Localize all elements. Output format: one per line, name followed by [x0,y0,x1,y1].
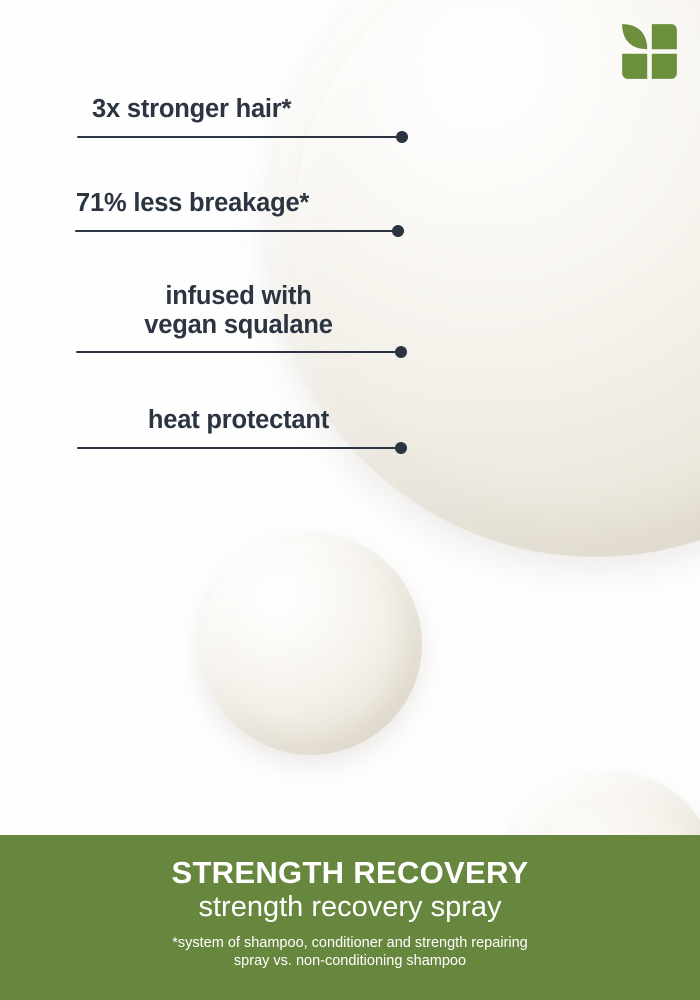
claim-rule-line [77,447,401,449]
large-product-sphere [268,0,700,557]
claim-rule-dot [395,442,407,454]
product-banner: STRENGTH RECOVERY strength recovery spra… [0,835,700,1000]
claim-rule [0,224,420,238]
claim-item: 3x stronger hair* [0,95,420,144]
claim-rule-line [75,230,398,232]
claim-item: heat protectant [0,406,420,455]
claim-rule-dot [396,131,408,143]
brand-logo[interactable] [621,23,678,80]
banner-footnote: *system of shampoo, conditioner and stre… [0,934,700,971]
banner-subtitle: strength recovery spray [0,890,700,924]
claim-rule-line [76,351,401,353]
claim-item: 71% less breakage* [0,189,420,238]
product-benefits-poster: 3x stronger hair* 71% less breakage* inf… [0,0,700,1000]
banner-title: STRENGTH RECOVERY [0,857,700,889]
claim-rule-dot [395,346,407,358]
claim-rule-line [77,136,402,138]
claim-label: heat protectant [76,406,401,435]
claim-rule-dot [392,225,404,237]
medium-product-sphere [200,533,422,755]
claim-item: infused with vegan squalane [0,282,420,359]
claim-rule [0,441,420,455]
claim-label: 3x stronger hair* [92,95,402,124]
claim-label: infused with vegan squalane [76,282,401,339]
claim-label: 71% less breakage* [76,189,398,218]
claim-rule [0,130,420,144]
claim-rule [0,345,420,359]
